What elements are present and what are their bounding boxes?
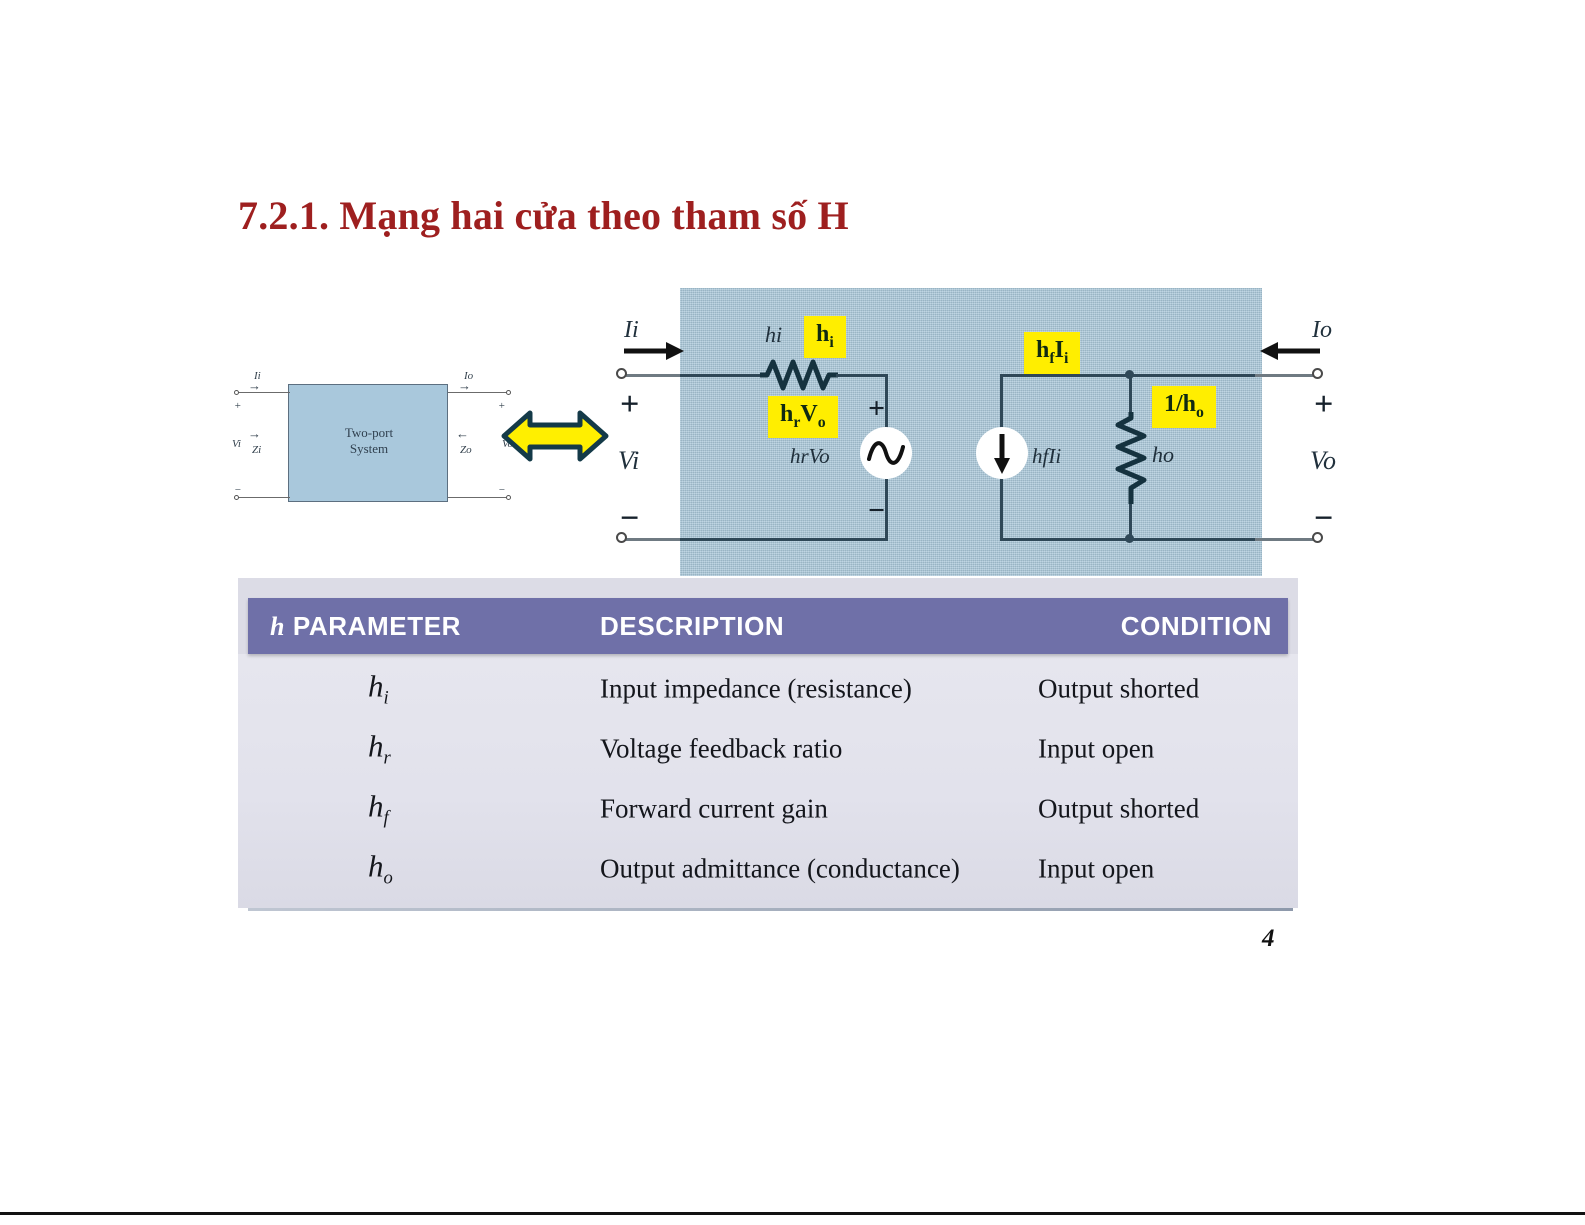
tp-lead-out-bot <box>448 497 510 498</box>
series-resistor-hi-icon <box>760 358 838 392</box>
tp-label-vi: Vi <box>232 438 241 450</box>
table-bottom-rule <box>248 908 1293 911</box>
slide-canvas: 7.2.1. Mạng hai cửa theo tham số H Two-p… <box>0 0 1585 1225</box>
page-title: 7.2.1. Mạng hai cửa theo tham số H <box>238 192 849 239</box>
tp-minus-out: − <box>498 484 505 496</box>
table-row: hi Input impedance (resistance) Output s… <box>238 660 1298 718</box>
table-cell-condition: Output shorted <box>1038 674 1199 705</box>
tp-arrow-zo-icon: ← <box>456 426 469 442</box>
dependent-voltage-source-icon <box>860 427 912 479</box>
tp-terminal-out-bot <box>506 495 511 500</box>
double-headed-arrow-icon <box>500 405 610 467</box>
circuit-wire-in-top <box>680 374 764 377</box>
circuit-wire-cs-bottom <box>1000 538 1132 541</box>
table-cell-description: Output admittance (conductance) <box>600 854 960 885</box>
table-cell-parameter: hf <box>368 788 389 829</box>
tp-lead-in-bot <box>238 497 290 498</box>
current-source-label: hfIi <box>1032 446 1061 467</box>
two-port-system-box: Two-port System <box>288 384 448 502</box>
tp-label-zo: Zo <box>460 444 472 456</box>
h-parameter-circuit-overlay: Ii + Vi − hi hi <box>600 288 1340 576</box>
circuit-wire-to-source <box>836 374 888 377</box>
table-cell-parameter: ho <box>368 848 393 889</box>
table-cell-condition: Output shorted <box>1038 794 1199 825</box>
circuit-plus-out: + <box>1314 388 1333 422</box>
table-cell-description: Forward current gain <box>600 794 828 825</box>
table-row: ho Output admittance (conductance) Input… <box>238 840 1298 898</box>
two-port-label-line2: System <box>350 441 388 456</box>
table-cell-description: Input impedance (resistance) <box>600 674 912 705</box>
callout-1-over-ho: 1/ho <box>1152 386 1216 428</box>
circuit-terminal-in-top <box>616 368 627 379</box>
two-port-system-label: Two-port System <box>289 425 449 458</box>
table-cell-parameter: hi <box>368 668 389 709</box>
tp-terminal-in-top <box>234 390 239 395</box>
circuit-arrow-ii-icon <box>622 340 684 362</box>
circuit-arrow-io-icon <box>1260 340 1322 362</box>
circuit-plus-in: + <box>620 388 639 422</box>
tp-arrow-out-icon: → <box>458 378 471 394</box>
page-number: 4 <box>1262 925 1275 953</box>
circuit-wire-shunt-bottom <box>1129 502 1132 540</box>
tp-minus-in: − <box>234 484 241 496</box>
dependent-current-source-icon <box>976 427 1028 479</box>
circuit-minus-in: − <box>620 502 639 536</box>
circuit-wire-cs-top <box>1000 374 1132 377</box>
table-cell-condition: Input open <box>1038 854 1154 885</box>
table-cell-parameter: hr <box>368 728 391 769</box>
circuit-label-vo: Vo <box>1310 448 1336 474</box>
circuit-terminal-out-top <box>1312 368 1323 379</box>
source-minus: − <box>868 496 885 526</box>
bottom-rule <box>0 1212 1585 1215</box>
tp-plus-in: + <box>234 400 241 412</box>
tp-lead-in-top <box>238 392 290 393</box>
source-plus: + <box>868 394 885 424</box>
table-row: hr Voltage feedback ratio Input open <box>238 720 1298 778</box>
circuit-lead-out-top <box>1255 374 1317 377</box>
circuit-wire-out-top <box>1129 374 1259 377</box>
table-header-condition: CONDITION <box>1121 611 1272 642</box>
tp-label-zi: Zi <box>252 444 261 456</box>
circuit-label-vi: Vi <box>618 448 639 474</box>
circuit-label-io: Io <box>1312 318 1332 342</box>
table-row: hf Forward current gain Output shorted <box>238 780 1298 838</box>
circuit-lead-out-bot <box>1255 538 1317 541</box>
circuit-wire-in-bottom <box>680 538 888 541</box>
circuit-label-ii: Ii <box>624 318 639 342</box>
table-cell-description: Voltage feedback ratio <box>600 734 842 765</box>
callout-hrvo: hrVo <box>768 396 838 438</box>
circuit-wire-out-bot <box>1129 538 1259 541</box>
tp-arrow-zi-icon: → <box>248 426 261 442</box>
table-cell-condition: Input open <box>1038 734 1154 765</box>
h-parameter-table: hi Input impedance (resistance) Output s… <box>238 578 1298 908</box>
table-body: hi Input impedance (resistance) Output s… <box>238 654 1298 908</box>
circuit-minus-out: − <box>1314 502 1333 536</box>
tp-arrow-in-icon: → <box>248 378 261 394</box>
voltage-source-label: hrVo <box>790 446 830 467</box>
shunt-resistor-ho-icon <box>1114 412 1148 504</box>
two-port-label-line1: Two-port <box>345 425 393 440</box>
two-port-block-diagram: Two-port System Ii → Io → + − + <box>232 358 522 518</box>
table-header-description: DESCRIPTION <box>600 611 784 642</box>
shunt-resistor-label: ho <box>1152 444 1174 466</box>
table-header-row: h PARAMETER DESCRIPTION CONDITION <box>248 598 1288 654</box>
callout-hfii: hfIi <box>1024 332 1080 374</box>
table-header-parameter: h PARAMETER <box>270 611 461 642</box>
circuit-wire-shunt-top <box>1129 374 1132 416</box>
callout-hi: hi <box>804 316 846 358</box>
series-resistor-label: hi <box>765 324 782 346</box>
tp-terminal-out-top <box>506 390 511 395</box>
